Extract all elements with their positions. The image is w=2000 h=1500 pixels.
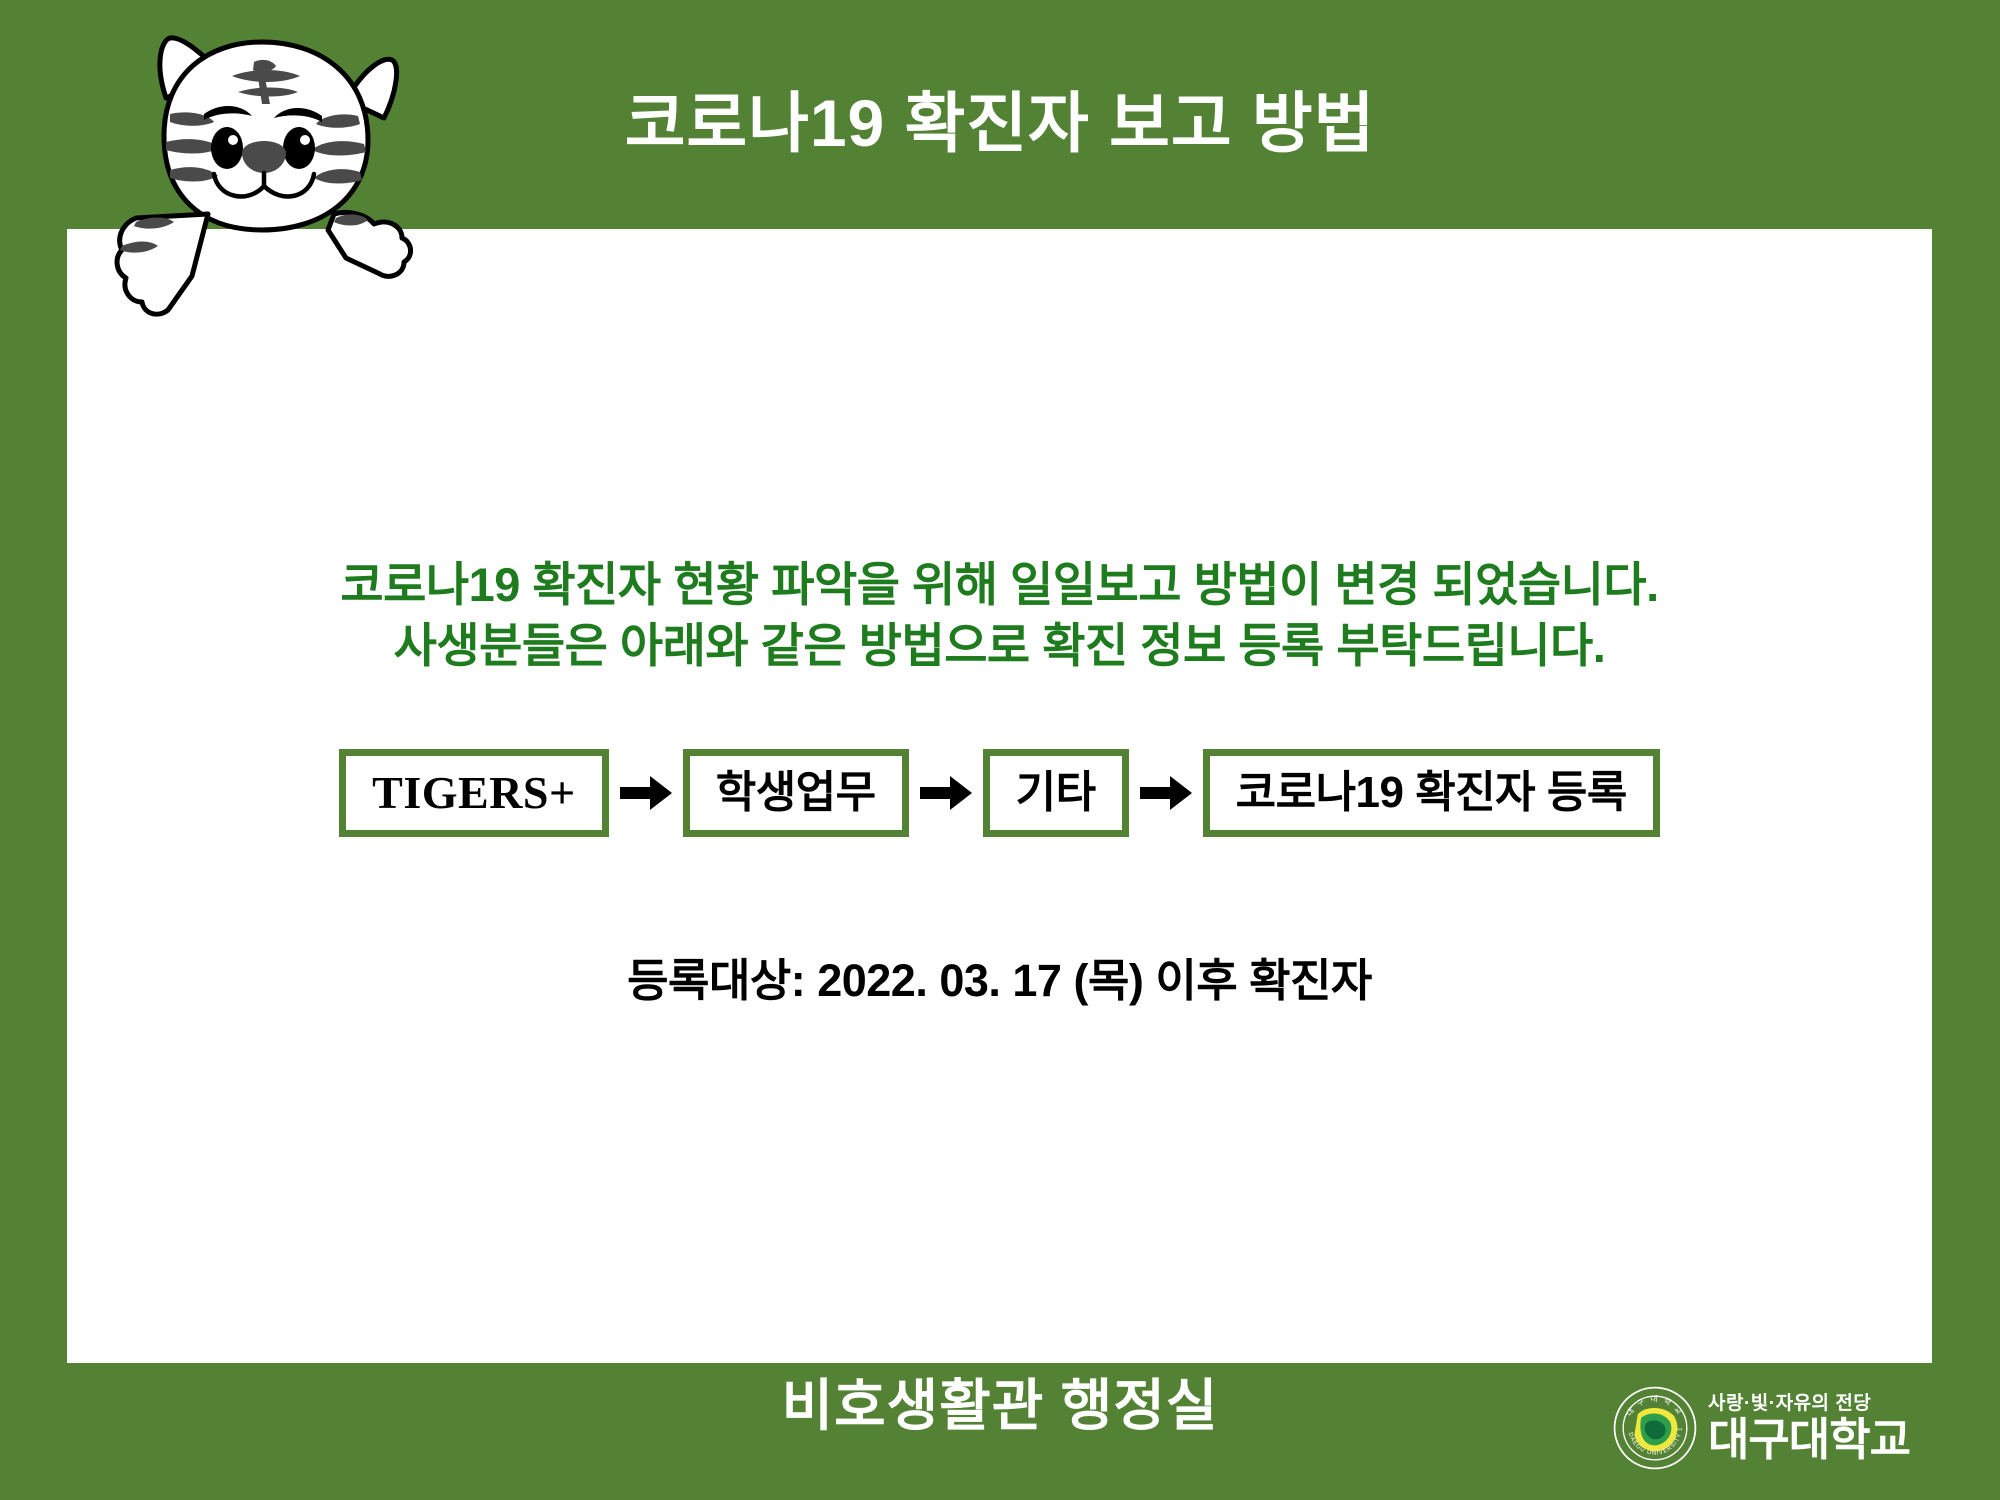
notice-message-line-1: 코로나19 확진자 현황 파악을 위해 일일보고 방법이 변경 되었습니다. <box>67 554 1932 615</box>
reporting-flow-diagram: TIGERS+ 학생업무 기타 <box>67 749 1932 837</box>
flow-step-covid19-registration[interactable]: 코로나19 확진자 등록 <box>1203 749 1660 837</box>
university-logo-text: 사랑·빛·자유의 전당 대구대학교 <box>1708 1394 1910 1462</box>
right-arrow-icon <box>909 776 983 810</box>
registration-target-note: 등록대상: 2022. 03. 17 (목) 이후 확진자 <box>67 944 1932 1009</box>
right-arrow-icon <box>609 776 683 810</box>
university-name: 대구대학교 <box>1708 1417 1910 1462</box>
page-title: 코로나19 확진자 보고 방법 <box>625 90 1376 156</box>
flow-step-label: 학생업무 <box>716 771 876 815</box>
daegu-university-emblem-icon: 대 구 대 학 교 DAEGU UNIVERSITY 1956 <box>1612 1385 1698 1471</box>
notice-message: 코로나19 확진자 현황 파악을 위해 일일보고 방법이 변경 되었습니다. 사… <box>67 554 1932 676</box>
university-tagline: 사랑·빛·자유의 전당 <box>1708 1394 1910 1415</box>
flow-step-student-affairs[interactable]: 학생업무 <box>683 749 909 837</box>
poster-root: 코로나19 확진자 보고 방법 코로나19 확진자 현황 파악을 위해 일일보고… <box>0 0 2000 1500</box>
white-tiger-mascot-icon <box>96 18 426 318</box>
flow-step-label: TIGERS+ <box>372 770 576 816</box>
flow-step-label: 코로나19 확진자 등록 <box>1236 771 1627 815</box>
content-panel: 코로나19 확진자 현황 파악을 위해 일일보고 방법이 변경 되었습니다. 사… <box>67 229 1932 1363</box>
notice-message-line-2: 사생분들은 아래와 같은 방법으로 확진 정보 등록 부탁드립니다. <box>67 615 1932 676</box>
flow-step-label: 기타 <box>1016 771 1096 815</box>
flow-step-etc[interactable]: 기타 <box>983 749 1129 837</box>
university-logo: 대 구 대 학 교 DAEGU UNIVERSITY 1956 사랑·빛·자유의… <box>1612 1378 1942 1478</box>
flow-step-tigers-plus[interactable]: TIGERS+ <box>339 749 609 837</box>
right-arrow-icon <box>1129 776 1203 810</box>
